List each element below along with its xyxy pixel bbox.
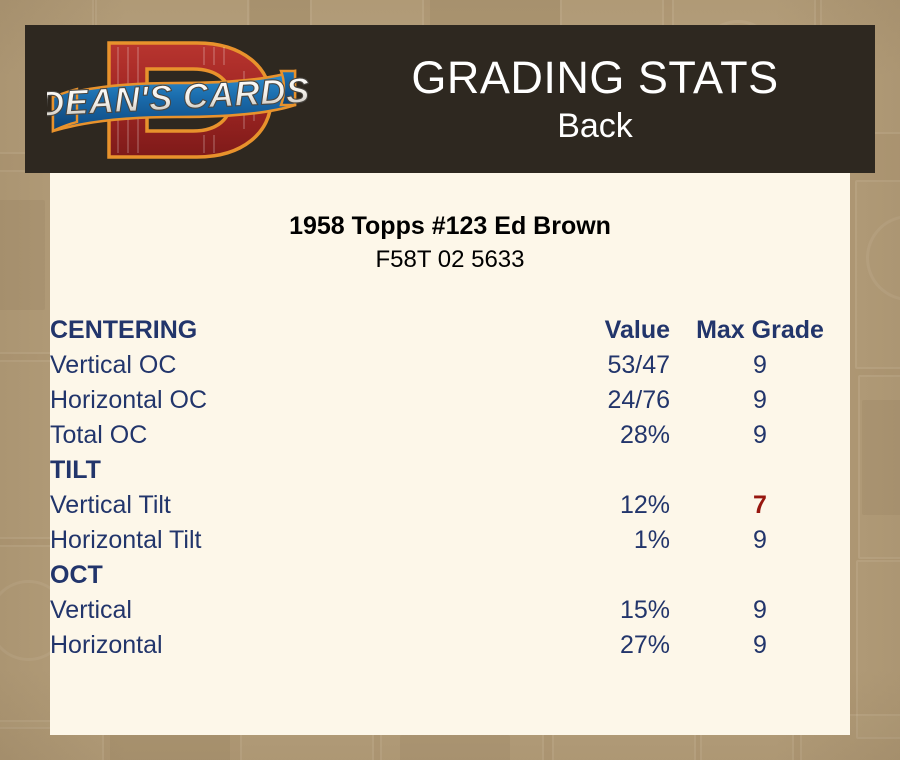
- row-grade: 9: [670, 593, 850, 628]
- row-label: Total OC: [50, 418, 490, 453]
- card-serial: F58T 02 5633: [50, 245, 850, 275]
- section-value-spacer: [490, 558, 670, 593]
- row-value: 27%: [490, 628, 670, 663]
- row-label: Horizontal Tilt: [50, 523, 490, 558]
- column-header-category: CENTERING: [50, 313, 490, 348]
- row-grade: 9: [670, 418, 850, 453]
- table-row: Vertical OC 53/47 9: [50, 348, 850, 383]
- section-header-row: TILT: [50, 453, 850, 488]
- table-row: Total OC 28% 9: [50, 418, 850, 453]
- section-label: OCT: [50, 558, 490, 593]
- row-label: Vertical OC: [50, 348, 490, 383]
- row-value: 12%: [490, 488, 670, 523]
- row-grade: 9: [670, 348, 850, 383]
- row-value: 15%: [490, 593, 670, 628]
- grading-stats-table: CENTERING Value Max Grade Vertical OC 53…: [50, 313, 850, 663]
- card-heading: 1958 Topps #123 Ed Brown: [50, 211, 850, 241]
- section-label: TILT: [50, 453, 490, 488]
- row-grade: 9: [670, 628, 850, 663]
- section-grade-spacer: [670, 558, 850, 593]
- content-panel: 1958 Topps #123 Ed Brown F58T 02 5633 CE…: [50, 173, 850, 735]
- row-value: 1%: [490, 523, 670, 558]
- row-value: 24/76: [490, 383, 670, 418]
- svg-text:DEAN'S CARDS: DEAN'S CARDS: [47, 71, 311, 124]
- row-label: Horizontal: [50, 628, 490, 663]
- table-row: Horizontal Tilt 1% 9: [50, 523, 850, 558]
- table-row: Horizontal 27% 9: [50, 628, 850, 663]
- stats-table-body: CENTERING Value Max Grade Vertical OC 53…: [50, 313, 850, 663]
- table-header-row: CENTERING Value Max Grade: [50, 313, 850, 348]
- row-grade: 9: [670, 523, 850, 558]
- row-value: 53/47: [490, 348, 670, 383]
- page-title: GRADING STATS: [411, 52, 778, 104]
- deans-cards-logo: DEAN'S CARDS: [47, 27, 312, 173]
- column-header-grade: Max Grade: [670, 313, 850, 348]
- section-header-row: OCT: [50, 558, 850, 593]
- logo-ribbon: DEAN'S CARDS: [47, 71, 311, 131]
- row-label: Horizontal OC: [50, 383, 490, 418]
- header-bar: DEAN'S CARDS GRADING STATS Back: [25, 25, 875, 173]
- header-title-group: GRADING STATS Back: [315, 25, 875, 173]
- column-header-value: Value: [490, 313, 670, 348]
- page-subtitle: Back: [557, 106, 633, 146]
- row-label: Vertical Tilt: [50, 488, 490, 523]
- table-row: Vertical Tilt 12% 7: [50, 488, 850, 523]
- row-grade: 9: [670, 383, 850, 418]
- table-row: Horizontal OC 24/76 9: [50, 383, 850, 418]
- row-grade-limiting: 7: [670, 488, 850, 523]
- section-value-spacer: [490, 453, 670, 488]
- section-grade-spacer: [670, 453, 850, 488]
- row-label: Vertical: [50, 593, 490, 628]
- table-row: Vertical 15% 9: [50, 593, 850, 628]
- row-value: 28%: [490, 418, 670, 453]
